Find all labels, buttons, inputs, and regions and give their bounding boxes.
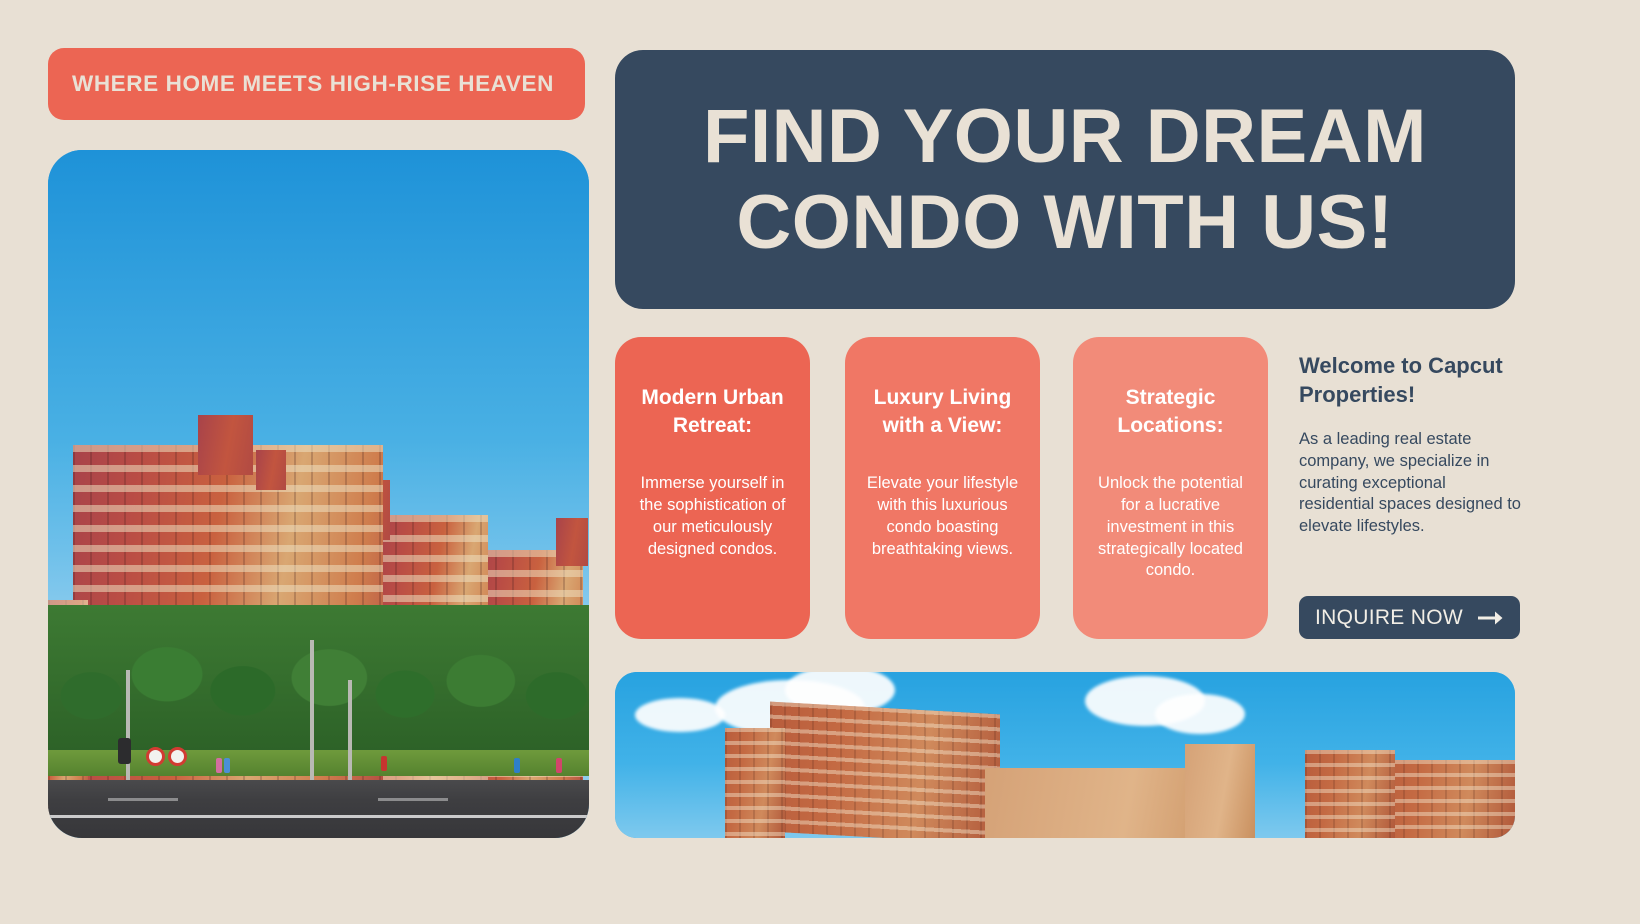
tagline-text: WHERE HOME MEETS HIGH-RISE HEAVEN [48,71,554,97]
feature-card-body: Elevate your lifestyle with this luxurio… [859,473,1026,561]
headline-panel: FIND YOUR DREAM CONDO WITH US! [615,50,1515,309]
hero-light-pole-3 [348,680,352,780]
feature-card-title: Modern Urban Retreat: [629,384,796,441]
welcome-block: Welcome to Capcut Properties! As a leadi… [1299,352,1524,538]
welcome-heading: Welcome to Capcut Properties! [1299,352,1524,409]
hero-no-entry-sign [168,747,187,766]
headline-line-2: CONDO WITH US! [736,180,1393,266]
hero-pedestrian-2 [224,758,230,773]
hero-lane-marking-2 [108,798,178,801]
bottom-main-tower [770,702,1000,838]
bottom-cloud-5 [635,698,725,732]
promo-banner-canvas: WHERE HOME MEETS HIGH-RISE HEAVEN [0,0,1640,924]
arrow-right-icon [1478,610,1504,626]
bottom-tower-wing [725,728,785,838]
hero-road [48,780,589,838]
tagline-banner: WHERE HOME MEETS HIGH-RISE HEAVEN [48,48,585,120]
welcome-body: As a leading real estate company, we spe… [1299,429,1524,538]
hero-photo [48,150,589,838]
feature-card-body: Unlock the potential for a lucrative inv… [1087,473,1254,583]
bottom-block-far-right [1375,760,1515,838]
feature-card-body: Immerse yourself in the sophistication o… [629,473,796,561]
hero-lane-marking-1 [48,815,589,818]
bottom-cloud-4 [1155,694,1245,734]
inquire-now-button[interactable]: INQUIRE NOW [1299,596,1520,639]
feature-card-title: Luxury Living with a View: [859,384,1026,441]
hero-chimney-right [556,518,588,566]
headline-line-1: FIND YOUR DREAM [703,94,1427,180]
bottom-photo [615,672,1515,838]
feature-card-strategic-locations[interactable]: Strategic Locations: Unlock the potentia… [1073,337,1268,639]
feature-card-modern-urban-retreat[interactable]: Modern Urban Retreat: Immerse yourself i… [615,337,810,639]
hero-cyclist-3 [556,758,562,773]
feature-card-luxury-living-with-a-view[interactable]: Luxury Living with a View: Elevate your … [845,337,1040,639]
bottom-block-right [1305,750,1395,838]
hero-light-pole-2 [310,640,314,780]
hero-cyclist-1 [381,756,387,771]
bottom-tan-tower [1185,744,1255,838]
hero-cyclist-2 [514,758,520,773]
hero-speed-limit-sign [146,747,165,766]
inquire-now-label: INQUIRE NOW [1315,606,1463,630]
hero-pedestrian-1 [216,758,222,773]
hero-lane-marking-3 [378,798,448,801]
hero-chimney-main [198,415,253,475]
feature-card-title: Strategic Locations: [1087,384,1254,441]
hero-chimney-secondary [256,450,286,490]
hero-traffic-signal [118,738,131,764]
